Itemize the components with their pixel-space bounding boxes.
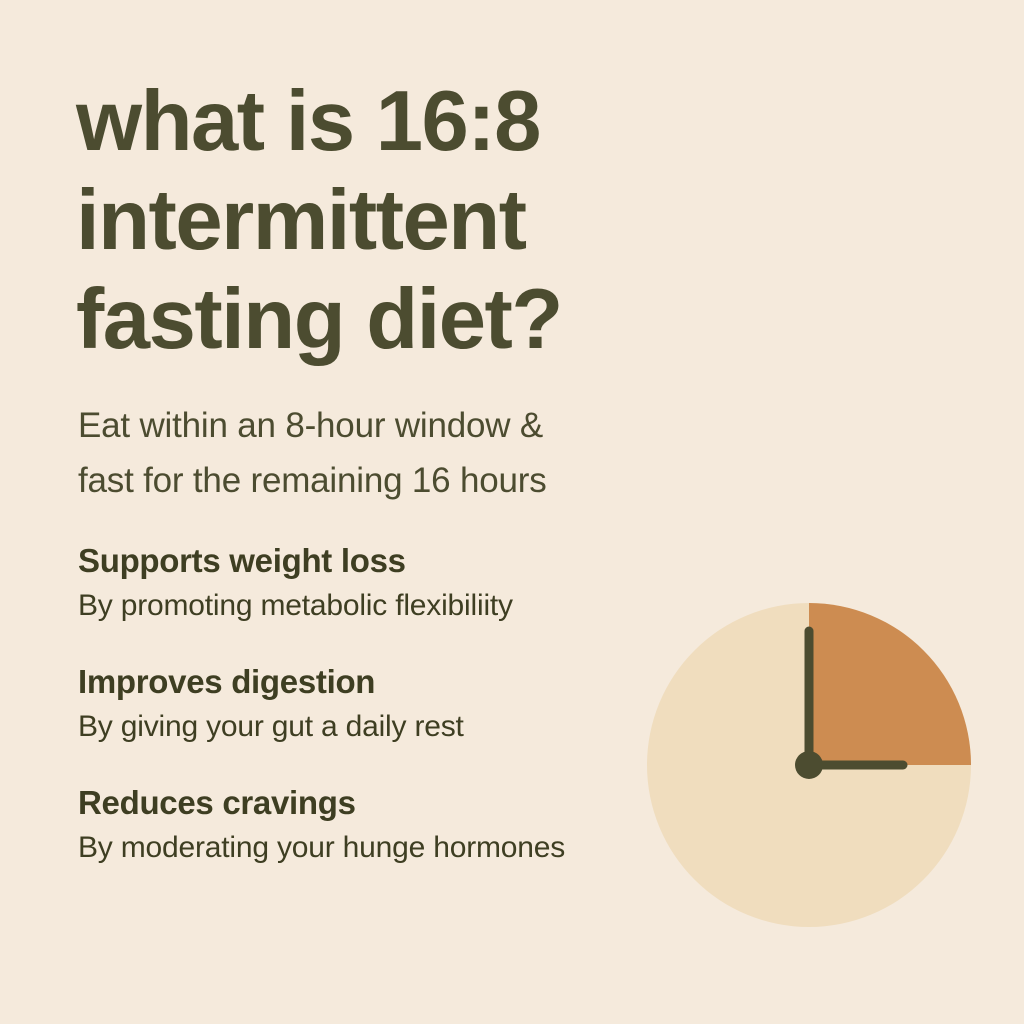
dial-eating-sector xyxy=(809,603,971,765)
benefit-title: Improves digestion xyxy=(78,661,698,703)
page-title: what is 16:8 intermittent fasting diet? xyxy=(76,72,696,369)
infographic-poster: what is 16:8 intermittent fasting diet? … xyxy=(0,0,1024,1024)
benefit-description: By moderating your hunge hormones xyxy=(78,829,698,867)
list-item: Reduces cravings By moderating your hung… xyxy=(78,782,698,867)
subtitle-text: Eat within an 8-hour window & fast for t… xyxy=(78,398,698,508)
list-item: Improves digestion By giving your gut a … xyxy=(78,661,698,746)
clock-center-hub-icon xyxy=(795,751,823,779)
benefit-title: Supports weight loss xyxy=(78,540,698,582)
benefits-list: Supports weight loss By promoting metabo… xyxy=(78,540,698,867)
benefit-description: By promoting metabolic flexibiliity xyxy=(78,587,698,625)
benefit-title: Reduces cravings xyxy=(78,782,698,824)
clock-illustration xyxy=(646,602,972,928)
benefit-description: By giving your gut a daily rest xyxy=(78,708,698,746)
list-item: Supports weight loss By promoting metabo… xyxy=(78,540,698,625)
clock-svg xyxy=(646,602,972,928)
